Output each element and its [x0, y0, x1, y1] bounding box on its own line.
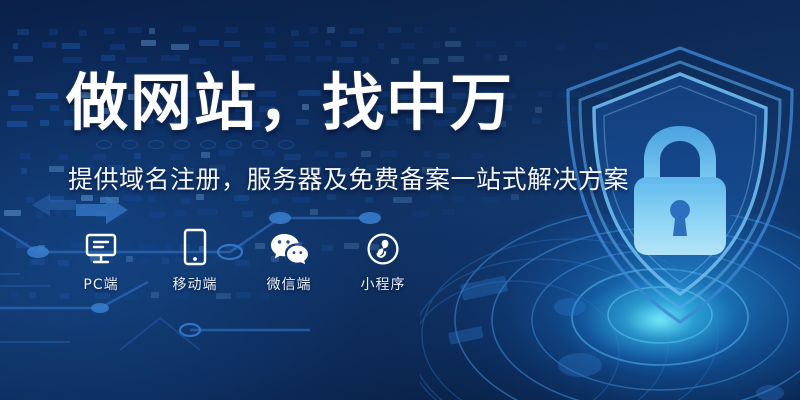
monitor-icon — [84, 228, 118, 266]
feature-icon-row: PC端 移动端 — [66, 228, 418, 294]
feature-item-wechat[interactable]: 微信端 — [254, 228, 324, 294]
disc-core-glow — [560, 265, 760, 375]
feature-label-mobile: 移动端 — [173, 274, 218, 294]
feature-label-pc: PC端 — [83, 274, 118, 294]
feature-item-mobile[interactable]: 移动端 — [160, 228, 230, 294]
page-title: 做网站，找中万 — [66, 72, 514, 134]
miniprogram-icon — [366, 228, 400, 266]
feature-label-miniprogram: 小程序 — [361, 274, 406, 294]
feature-item-pc[interactable]: PC端 — [66, 228, 136, 294]
feature-label-wechat: 微信端 — [267, 274, 312, 294]
promo-banner: 做网站，找中万 提供域名注册，服务器及免费备案一站式解决方案 PC端 — [0, 0, 800, 400]
page-subtitle: 提供域名注册，服务器及免费备案一站式解决方案 — [68, 160, 629, 196]
wechat-icon — [269, 228, 309, 266]
banner-content: 做网站，找中万 提供域名注册，服务器及免费备案一站式解决方案 PC端 — [0, 0, 560, 400]
padlock-icon — [634, 126, 726, 255]
smartphone-icon — [183, 228, 207, 266]
feature-item-miniprogram[interactable]: 小程序 — [348, 228, 418, 294]
